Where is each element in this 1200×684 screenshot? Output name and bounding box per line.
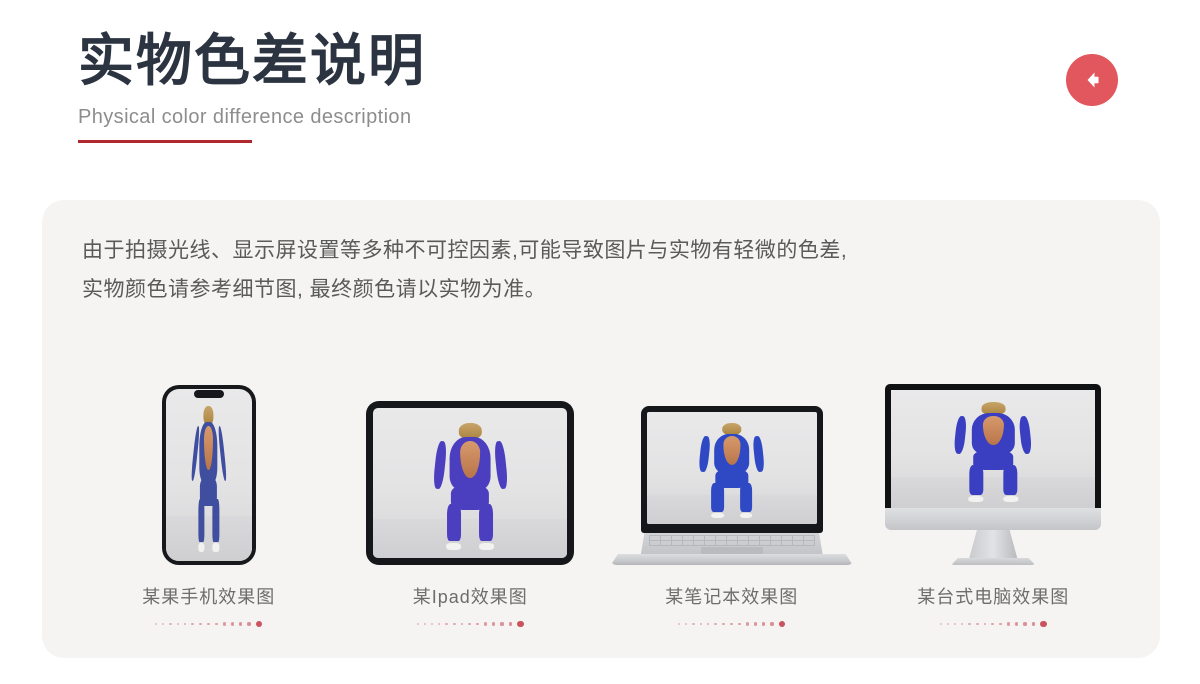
desktop-stand-base <box>951 558 1035 565</box>
model-figure <box>437 423 503 549</box>
decorative-dot <box>754 622 757 625</box>
decorative-dot <box>445 623 447 625</box>
decorative-dot <box>191 623 194 626</box>
decorative-dot <box>947 623 949 625</box>
decorative-dot <box>468 623 471 626</box>
dot-rule-laptop <box>678 620 785 628</box>
decorative-dot <box>1032 622 1035 625</box>
model-arm-left <box>432 440 447 489</box>
decorative-dot <box>984 623 987 626</box>
decorative-dot <box>199 623 202 626</box>
decorative-dot <box>177 623 179 625</box>
dot-rule-tablet <box>417 620 524 628</box>
decorative-dot <box>247 622 250 625</box>
decorative-dot <box>1040 621 1047 628</box>
page-subtitle: Physical color difference description <box>78 106 1118 129</box>
tablet-mockup <box>366 401 574 565</box>
model-shoe-right <box>740 513 753 519</box>
arrow-left-icon <box>1079 67 1105 93</box>
laptop-trackpad <box>701 547 763 554</box>
model-shoe-right <box>1003 496 1018 502</box>
title-underline-rule <box>78 140 252 143</box>
decorative-dot <box>1007 622 1010 625</box>
decorative-dot <box>700 623 702 625</box>
device-caption-phone: 某果手机效果图 <box>142 583 275 609</box>
decorative-dot <box>215 623 218 626</box>
model-arm-left <box>954 415 968 454</box>
device-caption-laptop: 某笔记本效果图 <box>665 583 798 609</box>
decorative-dot <box>417 623 419 625</box>
decorative-dot <box>779 621 786 628</box>
page-title: 实物色差说明 <box>78 30 1118 92</box>
decorative-dot <box>940 623 942 625</box>
device-cell-phone: 某果手机效果图 <box>78 387 340 628</box>
decorative-dot <box>746 622 749 625</box>
model-figure <box>703 423 761 517</box>
disclaimer-line-2: 实物颜色请参考细节图, 最终颜色请以实物为准。 <box>82 271 847 310</box>
device-cell-tablet: 某Ipad效果图 <box>340 387 602 628</box>
back-button[interactable] <box>1066 54 1118 106</box>
decorative-dot <box>722 623 725 626</box>
decorative-dot <box>184 623 186 625</box>
decorative-dot <box>162 623 164 625</box>
decorative-dot <box>424 623 426 625</box>
decorative-dot <box>484 622 487 625</box>
model-leg-right <box>479 504 493 542</box>
model-leg-right <box>1003 465 1018 495</box>
desktop-chin <box>885 508 1101 530</box>
decorative-dot <box>223 622 226 625</box>
decorative-dot <box>1015 622 1018 625</box>
model-leg-left <box>199 499 205 542</box>
decorative-dot <box>692 623 694 625</box>
product-photo-phone <box>166 389 252 561</box>
laptop-base-deck <box>611 554 853 565</box>
device-mockup-row: 某果手机效果图 <box>42 368 1160 628</box>
decorative-dot <box>730 623 733 626</box>
decorative-dot <box>169 623 171 625</box>
decorative-dot <box>231 622 234 625</box>
device-cell-laptop: 某笔记本效果图 <box>601 387 863 628</box>
decorative-dot <box>256 621 263 628</box>
model-leg-left <box>447 504 461 542</box>
desktop-stand-neck <box>969 530 1017 558</box>
decorative-dot <box>239 622 242 625</box>
phone-stage <box>162 387 256 565</box>
decorative-dot <box>517 621 524 628</box>
decorative-dot <box>500 622 503 625</box>
model-arm-right <box>493 440 508 489</box>
decorative-dot <box>461 623 464 626</box>
disclaimer-line-1: 由于拍摄光线、显示屏设置等多种不可控因素,可能导致图片与实物有轻微的色差, <box>82 232 847 271</box>
product-photo-laptop <box>647 412 817 524</box>
model-arm-right <box>1018 415 1032 454</box>
phone-dynamic-island <box>194 390 224 398</box>
decorative-dot <box>678 623 680 625</box>
decorative-dot <box>476 623 479 626</box>
model-arm-right <box>217 426 227 481</box>
disclaimer-text: 由于拍摄光线、显示屏设置等多种不可控因素,可能导致图片与实物有轻微的色差, 实物… <box>82 232 847 310</box>
model-arm-left <box>699 436 711 472</box>
model-shoe-left <box>968 496 983 502</box>
decorative-dot <box>999 623 1002 626</box>
decorative-dot <box>954 623 956 625</box>
decorative-dot <box>1023 622 1026 625</box>
decorative-dot <box>207 623 210 626</box>
dot-rule-desktop <box>940 620 1047 628</box>
laptop-stage <box>611 387 853 565</box>
model-shoe-left <box>198 543 204 552</box>
page-header: 实物色差说明 Physical color difference descrip… <box>78 30 1118 143</box>
laptop-screen <box>647 412 817 524</box>
laptop-mockup <box>611 406 853 565</box>
model-shoe-left <box>446 543 461 551</box>
decorative-dot <box>707 623 709 625</box>
decorative-dot <box>431 623 433 625</box>
laptop-lid <box>641 406 823 533</box>
desktop-mockup <box>885 384 1101 565</box>
desktop-screen <box>891 390 1095 508</box>
decorative-dot <box>492 622 495 625</box>
model-figure <box>959 402 1028 501</box>
model-shoe-right <box>480 543 495 551</box>
device-caption-desktop: 某台式电脑效果图 <box>917 583 1069 609</box>
decorative-dot <box>738 623 741 626</box>
decorative-dot <box>509 622 512 625</box>
laptop-keyboard <box>641 533 823 555</box>
model-shoe-right <box>213 543 219 552</box>
model-arm-right <box>752 436 764 472</box>
model-leg-left <box>712 483 724 511</box>
decorative-dot <box>453 623 456 626</box>
model-figure <box>194 406 223 550</box>
decorative-dot <box>961 623 963 625</box>
product-photo-desktop <box>891 390 1095 508</box>
desktop-monitor <box>885 384 1101 508</box>
decorative-dot <box>714 623 717 626</box>
product-photo-tablet <box>373 408 567 558</box>
decorative-dot <box>976 623 979 626</box>
model-leg-left <box>969 465 984 495</box>
decorative-dot <box>968 623 970 625</box>
decorative-dot <box>991 623 994 626</box>
model-leg-right <box>213 499 219 542</box>
model-shoe-left <box>711 513 724 519</box>
dot-rule-phone <box>155 620 262 628</box>
color-difference-panel: 由于拍摄光线、显示屏设置等多种不可控因素,可能导致图片与实物有轻微的色差, 实物… <box>42 200 1160 658</box>
decorative-dot <box>762 622 765 625</box>
decorative-dot <box>155 623 157 625</box>
decorative-dot <box>770 622 773 625</box>
decorative-dot <box>685 623 687 625</box>
laptop-key-grid <box>649 535 815 546</box>
tablet-screen <box>373 408 567 558</box>
model-leg-right <box>740 483 752 511</box>
decorative-dot <box>438 623 440 625</box>
phone-mockup <box>162 385 256 565</box>
device-caption-tablet: 某Ipad效果图 <box>413 583 528 609</box>
tablet-stage <box>366 387 574 565</box>
desktop-stage <box>885 387 1101 565</box>
device-cell-desktop: 某台式电脑效果图 <box>863 387 1125 628</box>
phone-screen <box>166 389 252 561</box>
